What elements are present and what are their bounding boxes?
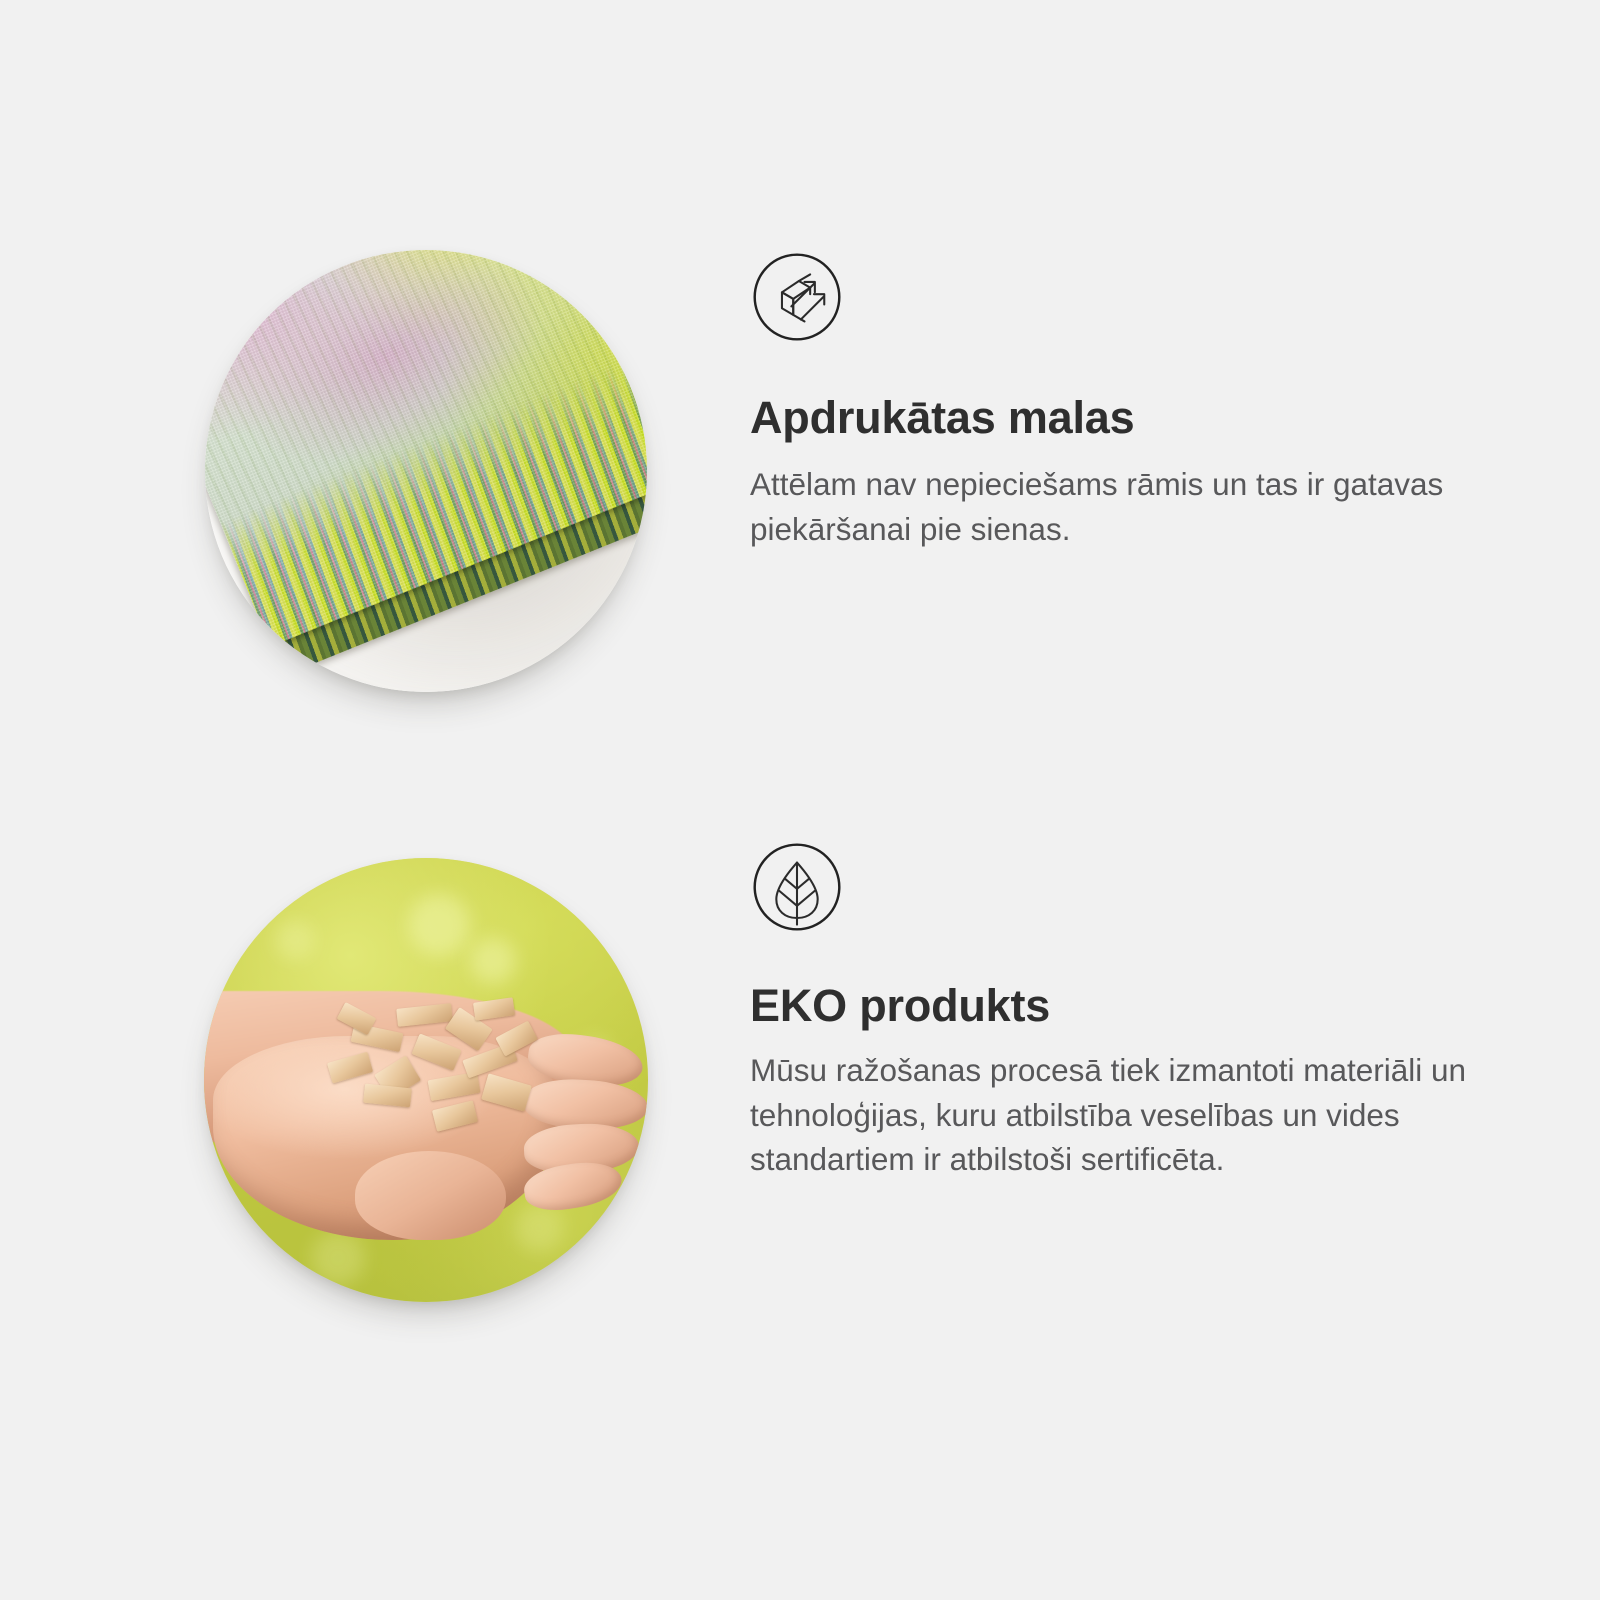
bokeh-light <box>311 1231 365 1285</box>
feature-printed-edges: Apdrukātas malas Attēlam nav nepieciešam… <box>0 250 1600 692</box>
wood-chip <box>411 1034 461 1072</box>
canvas-wrapped-edges-icon <box>750 250 844 344</box>
feature-title: EKO produkts <box>750 980 1600 1032</box>
wood-chip <box>432 1100 478 1132</box>
wood-chip <box>327 1052 373 1084</box>
product-features-page: Apdrukātas malas Attēlam nav nepieciešam… <box>0 0 1600 1600</box>
eco-product-media <box>0 840 740 1302</box>
wood-chip <box>363 1083 412 1107</box>
canvas-corner-photo <box>205 250 647 692</box>
wood-chip <box>396 1003 452 1026</box>
printed-edges-text: Apdrukātas malas Attēlam nav nepieciešam… <box>740 250 1600 551</box>
eco-product-text: EKO produkts Mūsu ražošanas procesā tiek… <box>740 840 1600 1182</box>
wood-chips-pile <box>319 987 568 1147</box>
bokeh-light <box>408 894 470 956</box>
bokeh-light <box>470 938 516 984</box>
wood-chips-in-hands-photo <box>204 858 648 1302</box>
thumb <box>355 1151 506 1240</box>
wood-chip <box>496 1021 539 1057</box>
bokeh-light <box>515 1204 563 1252</box>
feature-title: Apdrukātas malas <box>750 392 1600 444</box>
feature-eco-product: EKO produkts Mūsu ražošanas procesā tiek… <box>0 840 1600 1302</box>
wood-chip <box>473 997 515 1020</box>
bokeh-light <box>275 920 315 960</box>
leaf-icon <box>750 840 844 934</box>
wood-chip <box>481 1074 532 1112</box>
printed-edges-media <box>0 250 740 692</box>
feature-description: Attēlam nav nepieciešams rāmis un tas ir… <box>750 462 1480 551</box>
feature-description: Mūsu ražošanas procesā tiek izmantoti ma… <box>750 1048 1480 1182</box>
